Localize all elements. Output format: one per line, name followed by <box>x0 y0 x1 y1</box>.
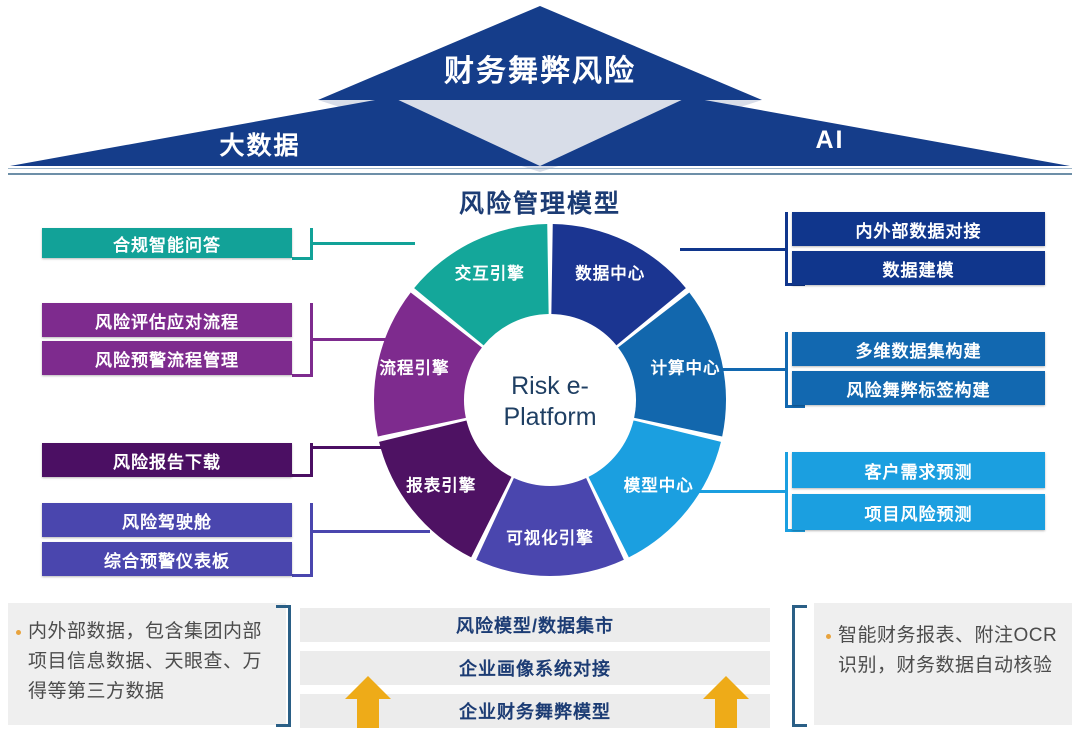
top-triangle <box>318 6 762 100</box>
chip-risk-assessment-process[interactable]: 风险评估应对流程 <box>42 303 292 337</box>
footer-right-bracket <box>792 605 807 727</box>
chip-label: 风险预警流程管理 <box>95 346 239 371</box>
chip-compliance-qa[interactable]: 合规智能问答 <box>42 228 292 258</box>
footer-mid-row-label: 企业画像系统对接 <box>459 655 611 681</box>
chip-risk-cockpit[interactable]: 风险驾驶舱 <box>42 503 292 537</box>
footer-right-bullet <box>826 634 831 639</box>
footer-right-note: 智能财务报表、附注OCR识别，财务数据自动核验 <box>838 621 1066 681</box>
chip-label: 风险驾驶舱 <box>122 508 212 533</box>
pyramid-header: 财务舞弊风险 大数据 AI <box>0 0 1080 178</box>
chip-label: 内外部数据对接 <box>856 217 982 242</box>
up-arrow-left-icon <box>345 676 391 728</box>
chip-label: 综合预警仪表板 <box>104 547 230 572</box>
footer-left-bullet <box>16 630 21 635</box>
chip-label: 数据建模 <box>883 256 955 281</box>
footer-mid-row-label: 企业财务舞弊模型 <box>459 698 611 724</box>
donut-segment-label: 数据中心 <box>575 263 645 283</box>
footer-mid-row-risk-model[interactable]: 风险模型/数据集市 <box>300 608 770 642</box>
hub-label-line2: Platform <box>503 403 596 431</box>
chip-project-risk-forecast[interactable]: 项目风险预测 <box>792 494 1045 530</box>
footer-left-note: 内外部数据，包含集团内部项目信息数据、天眼查、万得等第三方数据 <box>28 617 278 707</box>
chip-label: 风险舞弊标签构建 <box>847 376 991 401</box>
header-divider-2 <box>8 173 1072 175</box>
chip-label: 多维数据集构建 <box>856 337 982 362</box>
footer-mid-row-label: 风险模型/数据集市 <box>456 612 614 638</box>
header-divider-1 <box>8 168 1072 169</box>
chip-customer-demand-forecast[interactable]: 客户需求预测 <box>792 452 1045 488</box>
pyramid-svg <box>0 0 1080 178</box>
donut-segment-label: 报表引擎 <box>406 475 476 495</box>
donut-segment-label: 可视化引擎 <box>506 527 594 547</box>
chip-multidimensional-dataset-construction[interactable]: 多维数据集构建 <box>792 332 1045 366</box>
chip-label: 客户需求预测 <box>865 458 973 483</box>
diagram-canvas: 财务舞弊风险 大数据 AI 风险管理模型 <box>0 0 1080 736</box>
hub-label-line1: Risk e- <box>511 372 589 400</box>
chip-risk-report-download[interactable]: 风险报告下载 <box>42 443 292 477</box>
platform-donut-chart: Risk e- Platform 数据中心计算中心模型中心可视化引擎报表引擎流程… <box>372 222 728 578</box>
donut-segment-label: 计算中心 <box>651 357 721 377</box>
donut-segment-label: 模型中心 <box>624 475 694 495</box>
chip-risk-warning-process[interactable]: 风险预警流程管理 <box>42 341 292 375</box>
chip-label: 合规智能问答 <box>113 231 221 256</box>
chip-label: 风险评估应对流程 <box>95 308 239 333</box>
chip-integrated-warning-dashboard[interactable]: 综合预警仪表板 <box>42 542 292 576</box>
donut-svg: Risk e- Platform 数据中心计算中心模型中心可视化引擎报表引擎流程… <box>372 222 728 578</box>
chip-label: 风险报告下载 <box>113 448 221 473</box>
footer-left-bracket <box>276 605 291 727</box>
up-arrow-right-icon <box>703 676 749 728</box>
donut-hub <box>466 316 634 484</box>
chip-internal-external-data-integration[interactable]: 内外部数据对接 <box>792 212 1045 246</box>
donut-segment-label: 交互引擎 <box>455 263 525 283</box>
chip-data-modeling[interactable]: 数据建模 <box>792 251 1045 285</box>
chip-risk-fraud-tag-construction[interactable]: 风险舞弊标签构建 <box>792 371 1045 405</box>
chip-label: 项目风险预测 <box>865 500 973 525</box>
donut-segment-label: 流程引擎 <box>380 357 450 377</box>
